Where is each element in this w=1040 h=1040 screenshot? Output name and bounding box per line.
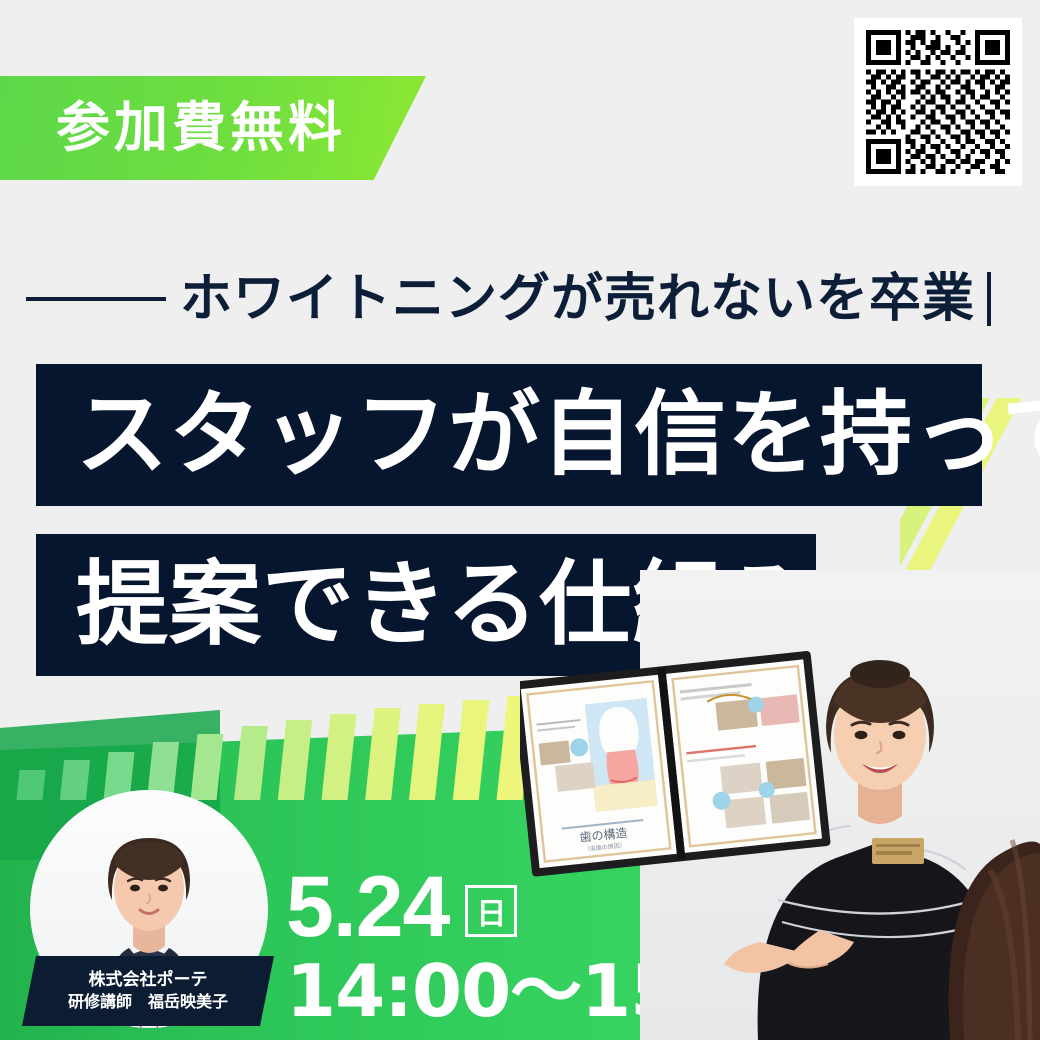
qr-code[interactable]: [854, 18, 1022, 186]
free-admission-ribbon: 参加費無料: [0, 76, 426, 180]
date-row: 5.24 日: [286, 866, 706, 949]
subtitle-rule: [26, 297, 166, 301]
subtitle-row: ホワイトニングが売れないを卒業: [26, 268, 1016, 330]
event-time: 14:00〜15:00: [286, 955, 706, 1027]
qr-code-graphic: [866, 30, 1010, 174]
headline-line-1: スタッフが自信を持って: [76, 389, 1040, 481]
event-date: 5.24: [286, 866, 449, 949]
free-admission-label: 参加費無料: [56, 101, 346, 155]
speaker-company: 株式会社ポーテ: [89, 971, 208, 991]
poster-root: 参加費無料: [0, 0, 1040, 1040]
headline-box-1: スタッフが自信を持って: [36, 364, 982, 506]
schedule-block: 5.24 日 14:00〜15:00: [286, 866, 706, 1027]
headline-line-2: 提案できる仕組み: [76, 559, 818, 651]
subtitle-end-bar: [987, 272, 991, 326]
speaker-credit-plate: 株式会社ポーテ 研修講師 福岳映美子: [22, 956, 274, 1026]
event-day-of-week: 日: [465, 885, 517, 937]
headline-box-2: 提案できる仕組み: [36, 534, 816, 676]
subtitle-text: ホワイトニングが売れないを卒業: [180, 273, 975, 325]
speaker-title-name: 研修講師 福岳映美子: [68, 993, 228, 1011]
